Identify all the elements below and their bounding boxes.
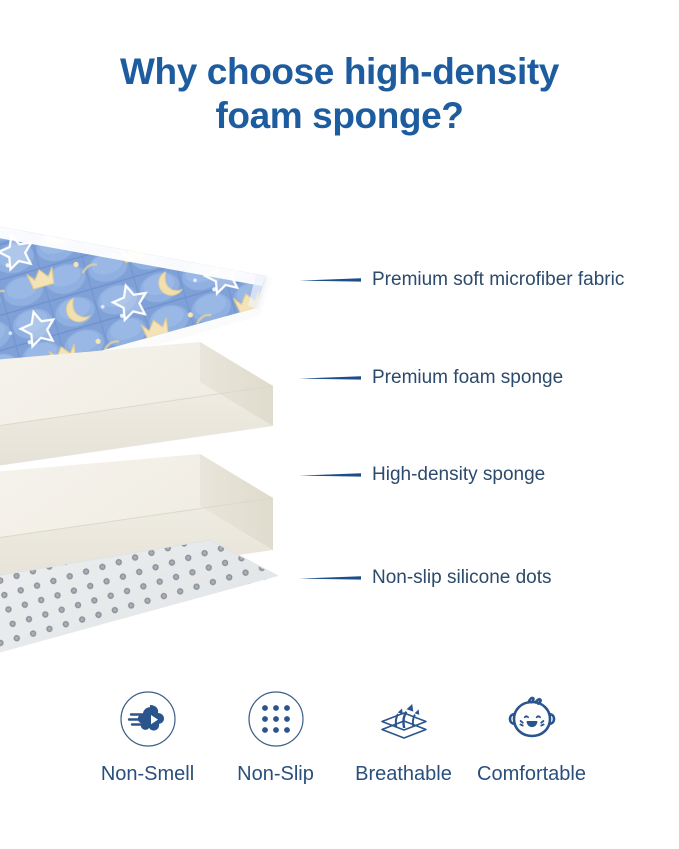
leader-line-icon xyxy=(299,470,361,480)
callout-high-density-sponge: High-density sponge xyxy=(299,462,545,488)
page-title-line-2: foam sponge? xyxy=(0,94,679,138)
feature-label-non-smell: Non-Smell xyxy=(101,763,194,786)
callout-label-high-density-sponge: High-density sponge xyxy=(372,462,545,488)
leader-line-icon xyxy=(299,573,361,583)
dot-grid-icon xyxy=(247,690,305,748)
feature-label-non-slip: Non-Slip xyxy=(237,763,314,786)
callout-premium-foam-sponge: Premium foam sponge xyxy=(299,365,563,391)
callout-label-silicone-dots: Non-slip silicone dots xyxy=(372,565,552,591)
feature-list: Non-Smell Non-Slip xyxy=(0,690,679,786)
feature-non-slip: Non-Slip xyxy=(212,690,340,786)
feature-comfortable: Comfortable xyxy=(468,690,596,786)
odor-waves-icon xyxy=(119,690,177,748)
feature-label-comfortable: Comfortable xyxy=(477,763,586,786)
page-title: Why choose high-density foam sponge? xyxy=(0,50,679,137)
callout-label-microfiber-fabric: Premium soft microfiber fabric xyxy=(372,267,624,293)
leader-line-icon xyxy=(299,373,361,383)
callout-silicone-dots: Non-slip silicone dots xyxy=(299,565,552,591)
airflow-layers-icon xyxy=(375,690,433,748)
leader-line-icon xyxy=(299,275,361,285)
layer-premium-foam-sponge xyxy=(0,342,273,480)
feature-breathable: Breathable xyxy=(340,690,468,786)
feature-non-smell: Non-Smell xyxy=(84,690,212,786)
page-title-line-1: Why choose high-density xyxy=(0,50,679,94)
callout-label-premium-foam-sponge: Premium foam sponge xyxy=(372,365,563,391)
baby-face-icon xyxy=(503,690,561,748)
feature-label-breathable: Breathable xyxy=(355,763,452,786)
callout-microfiber-fabric: Premium soft microfiber fabric xyxy=(299,267,624,293)
infographic-page: Why choose high-density foam sponge? xyxy=(0,0,679,849)
mattress-exploded-illustration xyxy=(0,150,340,690)
